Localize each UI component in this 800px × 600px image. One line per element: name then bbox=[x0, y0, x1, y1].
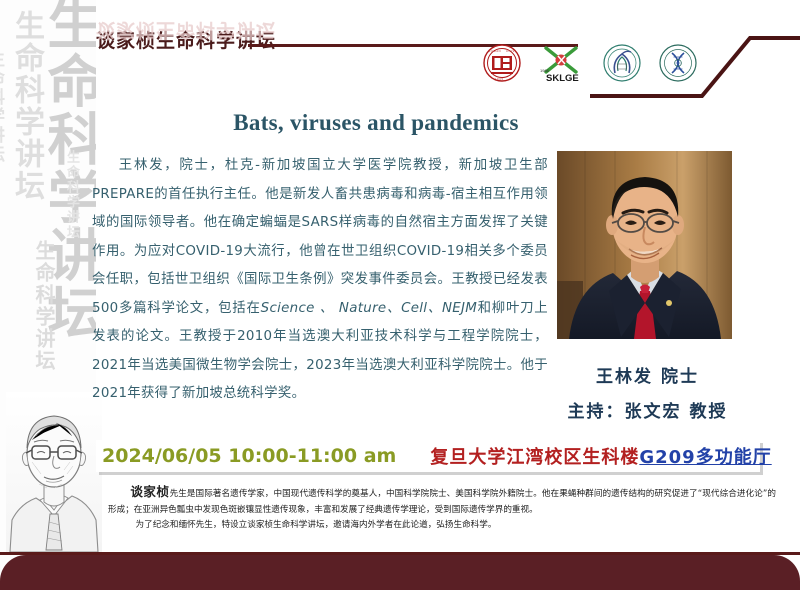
host-name: 主持：张文宏 教授 bbox=[545, 397, 750, 422]
bio-part-1: 王林发，院士，杜克-新加坡国立大学医学院教授，新加坡卫生部PREPARE的首任执… bbox=[92, 158, 548, 316]
event-venue: 复旦大学江湾校区生科楼 bbox=[430, 443, 639, 469]
sklge-logo: 1986 SKLGE bbox=[538, 42, 586, 89]
speaker-name: 王林发 院士 bbox=[545, 362, 750, 387]
watermark-text-tiny: 生命科学讲坛 bbox=[62, 150, 81, 240]
footer-blurb: 谈家桢先生是国际著名遗传学家，中国现代遗传科学的奠基人，中国科学院院士、美国科学… bbox=[108, 484, 776, 534]
school-of-life-sciences-logo bbox=[602, 43, 642, 88]
speaker-name-block: 王林发 院士 主持：张文宏 教授 bbox=[545, 362, 750, 422]
svg-text:U N I V: U N I V bbox=[506, 49, 515, 53]
event-room[interactable]: G209多功能厅 bbox=[639, 443, 771, 469]
watermark-text-small: 生命科学讲坛 bbox=[0, 50, 7, 164]
speaker-biography: 王林发，院士，杜克-新加坡国立大学医学院教授，新加坡卫生部PREPARE的首任执… bbox=[92, 152, 548, 409]
forum-title-reflection: 谈家桢生命科学讲坛 bbox=[96, 18, 276, 45]
tan-jiazhen-name: 谈家桢 bbox=[130, 484, 169, 499]
svg-text:1 9 0 5: 1 9 0 5 bbox=[495, 77, 503, 81]
poster-canvas: 生命科学讲坛 生命科学讲坛 生命科学讲坛 生命科学讲坛 生命科学讲坛 bbox=[0, 0, 800, 600]
watermark-text-lower: 生命科学讲坛 bbox=[30, 240, 59, 372]
watermark-text-large: 生命科学讲坛 bbox=[30, 0, 96, 342]
footer-paragraph-1: 谈家桢先生是国际著名遗传学家，中国现代遗传科学的奠基人，中国科学院院士、美国科学… bbox=[108, 484, 776, 518]
event-info-banner: 2024/06/05 10:00-11:00 am 复旦大学江湾校区生科楼 G2… bbox=[96, 440, 760, 472]
footer-text-1: 先生是国际著名遗传学家，中国现代遗传科学的奠基人，中国科学院院士、美国科学院外籍… bbox=[108, 489, 776, 515]
svg-text:SKLGE: SKLGE bbox=[546, 73, 579, 84]
bio-journals: Science 、 Nature、Cell、NEJM bbox=[261, 301, 477, 316]
event-datetime: 2024/06/05 10:00-11:00 am bbox=[102, 445, 396, 467]
footer-paragraph-2: 为了纪念和缅怀先生，特设立谈家桢生命科学讲坛，邀请海内外学者在此论道，弘扬生命科… bbox=[108, 518, 776, 534]
tan-jiazhen-portrait-sketch bbox=[6, 392, 102, 552]
fudan-university-logo: F U D A N U N I V 1 9 0 5 bbox=[482, 43, 522, 88]
speaker-photo bbox=[557, 151, 732, 339]
watermark-text-medium: 生命科学讲坛 bbox=[4, 10, 48, 202]
svg-text:F U D A N: F U D A N bbox=[489, 49, 501, 53]
talk-title: Bats, viruses and pandemics bbox=[96, 110, 656, 136]
logo-row: F U D A N U N I V 1 9 0 5 1986 SKLGE bbox=[482, 42, 698, 89]
genetics-society-logo bbox=[658, 43, 698, 88]
bottom-band bbox=[0, 555, 800, 600]
